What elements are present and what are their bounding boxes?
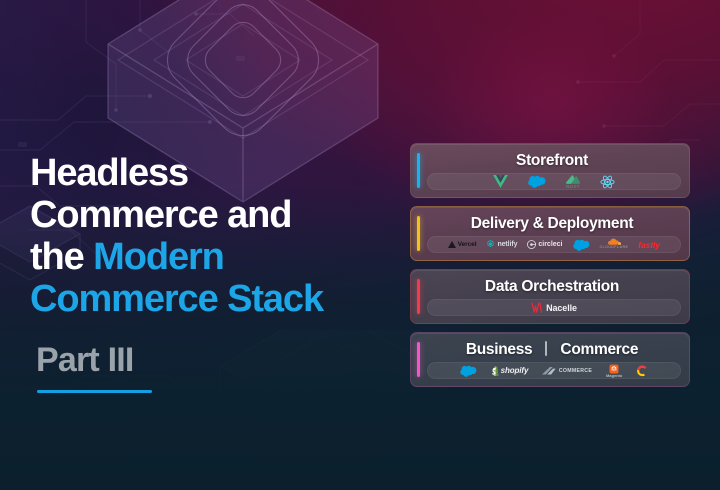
title-divider <box>545 341 547 356</box>
slide-canvas: Headless Commerce and the Modern Commerc… <box>0 0 720 490</box>
headline-line-3: the Modern <box>30 236 410 278</box>
stack-card-title-storefront: Storefront <box>427 150 681 173</box>
stack-card-title-business: Business <box>466 341 533 358</box>
salesforce-logo <box>528 175 546 188</box>
circleci-logo-label: circleci <box>538 241 562 248</box>
accent-bar-delivery-deployment <box>417 216 420 251</box>
stack-card-title-data-orchestration: Data Orchestration <box>427 276 681 299</box>
nuxt-logo: NUXT <box>566 175 580 189</box>
headline-line-4: Commerce Stack <box>30 278 410 320</box>
stack-card-title-delivery-deployment: Delivery & Deployment <box>427 213 681 236</box>
salesforce-logo <box>460 364 477 377</box>
accent-bar-business-commerce <box>417 342 420 377</box>
magento-logo-label: Magento <box>606 374 622 378</box>
headline-line-3-plain: the <box>30 236 93 278</box>
stack-card-delivery-deployment[interactable]: Delivery & Deployment Vercel netlify cir… <box>410 206 690 261</box>
nuxt-logo-label: NUXT <box>566 184 580 189</box>
accent-bar-storefront <box>417 153 420 188</box>
nacelle-logo-label: Nacelle <box>546 303 577 313</box>
cloudflare-logo-label: CLOUDFLARE <box>600 245 629 249</box>
stack-card-title-business-commerce: Business Commerce <box>427 339 681 362</box>
vercel-logo-label: Vercel <box>458 241 477 248</box>
shopify-logo: shopify <box>491 364 529 377</box>
commercetools-logo <box>636 364 648 377</box>
logo-row-storefront: NUXT <box>427 173 681 190</box>
circleci-logo: circleci <box>527 238 562 251</box>
page-title: Headless Commerce and the Modern Commerc… <box>30 152 410 320</box>
headline-line-1: Headless <box>30 152 410 194</box>
cloudflare-logo: CLOUDFLARE <box>600 238 629 252</box>
salesforce-logo <box>573 238 590 251</box>
part-label: Part III <box>36 341 134 379</box>
bigcommerce-logo-label: COMMERCE <box>559 368 592 374</box>
shopify-logo-label: shopify <box>501 366 529 375</box>
nacelle-logo: Nacelle <box>531 302 577 314</box>
stack-card-business-commerce[interactable]: Business Commerce shopify COMMERCE <box>410 332 690 387</box>
accent-bar-data-orchestration <box>417 279 420 314</box>
logo-row-data-orchestration: Nacelle <box>427 299 681 316</box>
react-logo <box>600 175 615 188</box>
fastly-logo: fastly <box>638 238 660 251</box>
stack-card-title-commerce: Commerce <box>560 341 638 358</box>
magento-logo: Magento <box>606 364 622 378</box>
logo-row-business-commerce: shopify COMMERCE Magento <box>427 362 681 379</box>
logo-row-delivery-deployment: Vercel netlify circleci CLOUDFLARE <box>427 236 681 253</box>
commerce-stack-diagram: Storefront NUXT Delivery & Depl <box>410 143 690 395</box>
part-underline-rule <box>37 390 152 393</box>
stack-card-storefront[interactable]: Storefront NUXT <box>410 143 690 198</box>
vue-logo <box>493 175 508 188</box>
headline-line-3-accent: Modern <box>93 236 224 278</box>
headline-line-2: Commerce and <box>30 194 410 236</box>
vercel-logo: Vercel <box>448 238 476 251</box>
bigcommerce-logo: COMMERCE <box>542 364 592 377</box>
netlify-logo-label: netlify <box>497 241 517 248</box>
fastly-logo-label: fastly <box>638 240 660 250</box>
stack-card-data-orchestration[interactable]: Data Orchestration Nacelle <box>410 269 690 324</box>
netlify-logo: netlify <box>486 238 517 251</box>
